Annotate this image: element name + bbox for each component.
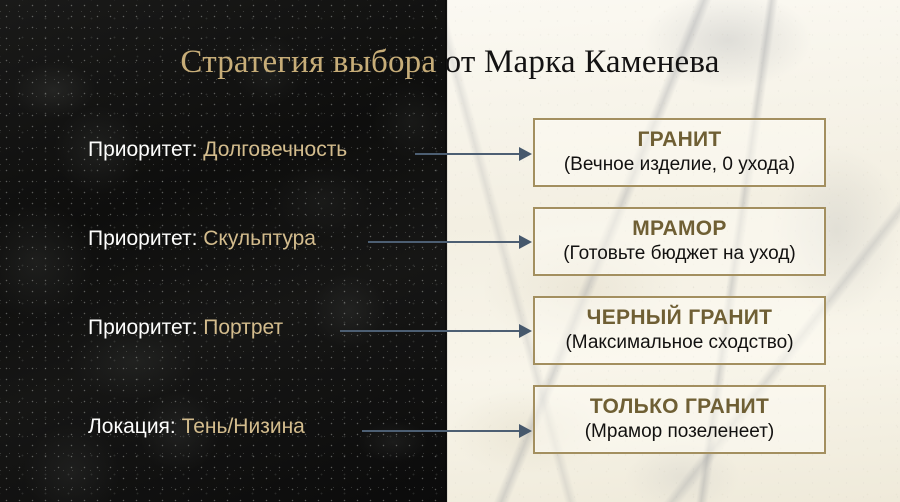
result-card-2-headline: МРАМОР [632,217,726,241]
arrow-shaft-icon [415,153,521,155]
result-card-3-headline: ЧЕРНЫЙ ГРАНИТ [587,306,773,330]
arrow-shaft-icon [368,241,521,243]
connector-arrow-2 [368,235,532,249]
arrow-shaft-icon [340,330,521,332]
criterion-label-1-lead: Приоритет: [88,138,197,161]
arrow-head-icon [519,235,532,249]
connector-arrow-4 [362,424,532,438]
page-title-dark-segment: от Марка Каменева [445,44,720,80]
result-card-4-headline: ТОЛЬКО ГРАНИТ [590,395,769,419]
criterion-label-2-lead: Приоритет: [88,227,197,250]
result-card-1-headline: ГРАНИТ [637,128,721,152]
criterion-label-3: Приоритет: Портрет [88,315,283,341]
arrow-head-icon [519,424,532,438]
arrow-head-icon [519,324,532,338]
connector-arrow-3 [340,324,532,338]
arrow-head-icon [519,147,532,161]
criterion-label-4: Локация: Тень/Низина [88,414,305,440]
criterion-label-1: Приоритет: Долговечность [88,137,347,163]
criterion-label-3-lead: Приоритет: [88,316,197,339]
page-title: Стратегия выбора от Марка Каменева [0,42,900,82]
arrow-shaft-icon [362,430,521,432]
result-card-3-subtext: (Максимальное сходство) [565,331,793,355]
criterion-label-2: Приоритет: Скульптура [88,226,316,252]
result-card-1[interactable]: ГРАНИТ (Вечное изделие, 0 ухода) [533,118,826,187]
criterion-label-2-value: Скульптура [203,227,316,250]
result-card-2-subtext: (Готовьте бюджет на уход) [563,242,796,266]
result-card-4-subtext: (Мрамор позеленеет) [585,420,775,444]
result-card-3[interactable]: ЧЕРНЫЙ ГРАНИТ (Максимальное сходство) [533,296,826,365]
criterion-label-4-lead: Локация: [88,415,176,438]
result-card-4[interactable]: ТОЛЬКО ГРАНИТ (Мрамор позеленеет) [533,385,826,454]
result-card-2[interactable]: МРАМОР (Готовьте бюджет на уход) [533,207,826,276]
criterion-label-4-value: Тень/Низина [182,415,305,438]
criterion-label-3-value: Портрет [203,316,283,339]
slide-canvas: Стратегия выбора от Марка Каменева Приор… [0,0,900,502]
connector-arrow-1 [415,147,532,161]
page-title-gold-segment: Стратегия выбора [180,44,444,80]
criterion-label-1-value: Долговечность [203,138,347,161]
result-card-1-subtext: (Вечное изделие, 0 ухода) [564,153,795,177]
